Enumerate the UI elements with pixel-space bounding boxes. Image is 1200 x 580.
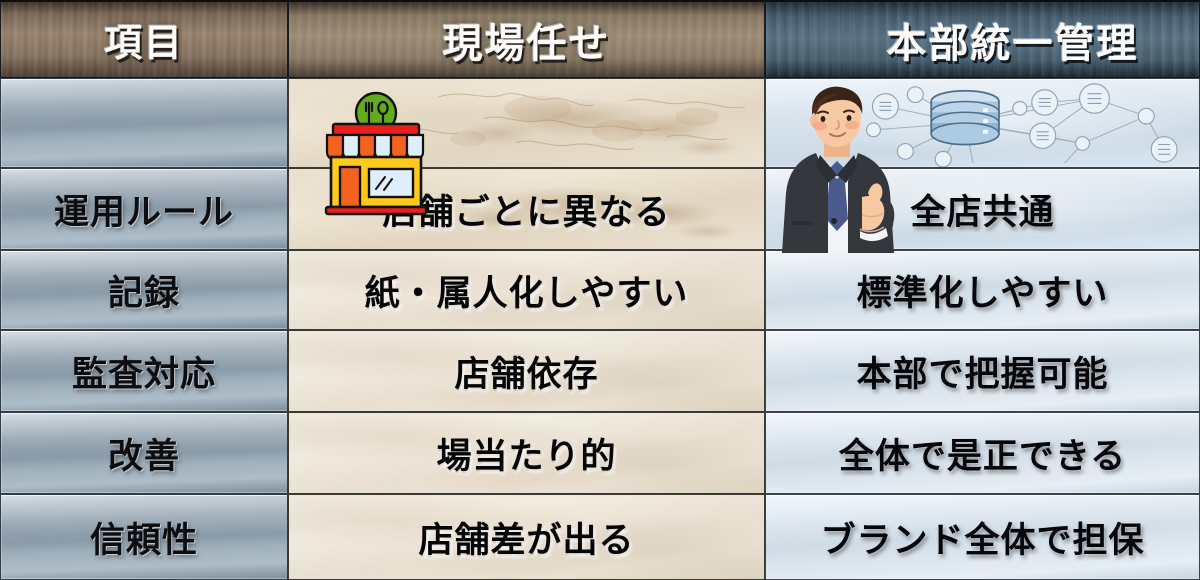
table-row-cell-item: 運用ルール	[0, 168, 288, 250]
table-row-cell-hq: ブランド全体で担保	[765, 494, 1200, 580]
header-cell-hq: 本部統一管理	[765, 0, 1200, 78]
comparison-table: 項目 現場任せ 本部統一管理	[0, 0, 1200, 580]
storefront-icon	[313, 91, 439, 221]
table-row-cell-onsite: 店舗差が出る	[288, 494, 765, 580]
row-value-onsite: 店舗差が出る	[418, 512, 634, 563]
art-cell-hq	[765, 78, 1200, 168]
table-row-cell-hq: 本部で把握可能	[765, 330, 1200, 412]
header-cell-item: 項目	[0, 0, 288, 78]
table-row-cell-item: 監査対応	[0, 330, 288, 412]
header-label-item: 項目	[104, 12, 184, 67]
art-cell-item-blank	[0, 78, 288, 168]
businessman-thumbsup-icon	[776, 81, 901, 253]
row-value-hq: 全店共通	[910, 184, 1054, 235]
table-row-cell-item: 改善	[0, 412, 288, 494]
row-value-hq: 標準化しやすい	[857, 265, 1109, 316]
row-label: 記録	[108, 265, 180, 316]
row-label: 信頼性	[90, 512, 198, 563]
row-label: 監査対応	[72, 346, 216, 397]
table-row-cell-onsite: 場当たり的	[288, 412, 765, 494]
row-value-hq: ブランド全体で担保	[820, 512, 1144, 563]
table-row-cell-hq: 全体で是正できる	[765, 412, 1200, 494]
row-value-onsite: 紙・属人化しやすい	[365, 265, 689, 316]
row-value-hq: 本部で把握可能	[856, 346, 1108, 397]
table-row-cell-onsite: 紙・属人化しやすい	[288, 250, 765, 330]
row-value-onsite: 場当たり的	[436, 428, 616, 479]
header-label-onsite: 現場任せ	[443, 11, 611, 69]
row-label: 改善	[108, 428, 180, 479]
table-row-cell-item: 記録	[0, 250, 288, 330]
table-row-cell-hq: 標準化しやすい	[765, 250, 1200, 330]
row-value-hq: 全体で是正できる	[839, 428, 1126, 479]
table-row-cell-item: 信頼性	[0, 494, 288, 580]
row-value-onsite: 店舗依存	[454, 346, 598, 397]
art-cell-onsite	[288, 78, 765, 168]
header-label-hq: 本部統一管理	[887, 11, 1139, 69]
header-cell-onsite: 現場任せ	[288, 0, 765, 78]
row-label: 運用ルール	[54, 184, 234, 235]
table-row-cell-onsite: 店舗依存	[288, 330, 765, 412]
